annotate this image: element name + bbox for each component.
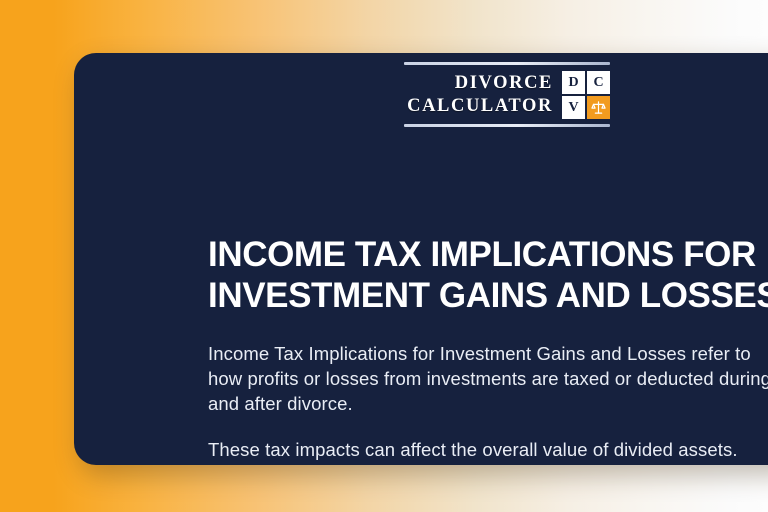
logo-cell-c: C [587, 71, 610, 94]
logo-word-calculator: CALCULATOR [407, 95, 553, 118]
promo-graphic: DIVORCE CALCULATOR D C V [0, 0, 768, 512]
logo-wordmark: DIVORCE CALCULATOR [407, 72, 553, 118]
content-card: DIVORCE CALCULATOR D C V [74, 53, 768, 465]
scales-of-justice-icon [591, 100, 606, 115]
logo-top-rule [404, 62, 610, 65]
logo-cell-accent [587, 96, 610, 119]
logo-cell-v: V [562, 96, 585, 119]
body-copy: Income Tax Implications for Investment G… [208, 341, 768, 462]
logo-monogram-grid: D C V [562, 71, 610, 119]
body-paragraph-1: Income Tax Implications for Investment G… [208, 341, 768, 416]
page-title: Income Tax Implications for Investment G… [208, 234, 768, 316]
brand-logo[interactable]: DIVORCE CALCULATOR D C V [404, 62, 610, 127]
logo-cell-d: D [562, 71, 585, 94]
logo-body: DIVORCE CALCULATOR D C V [404, 71, 610, 119]
logo-bottom-rule [404, 124, 610, 127]
body-paragraph-2: These tax impacts can affect the overall… [208, 437, 768, 462]
logo-word-divorce: DIVORCE [455, 72, 553, 95]
